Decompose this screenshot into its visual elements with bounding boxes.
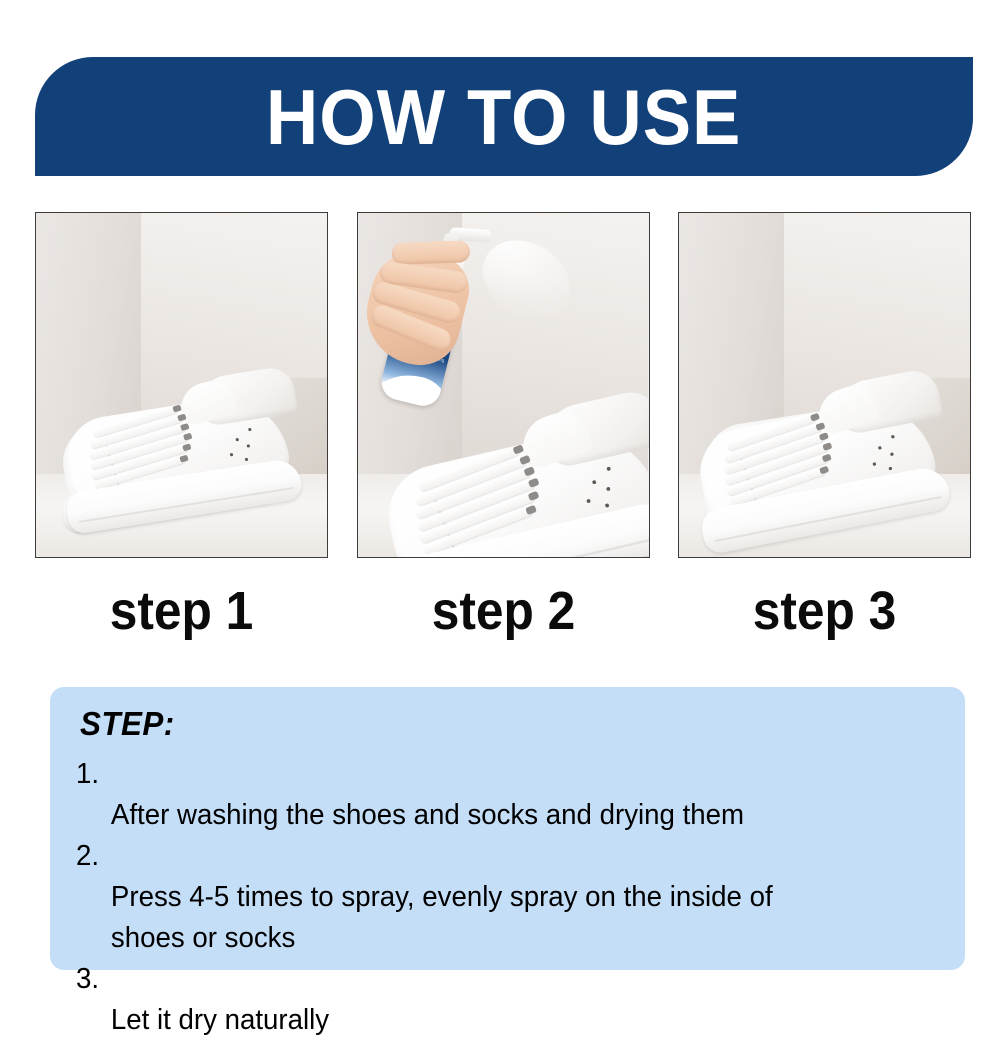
- list-item-text: Press 4-5 times to spray, evenly spray o…: [111, 881, 773, 954]
- how-to-use-banner: HOW TO USE: [35, 57, 973, 176]
- list-item-number: 3.: [76, 959, 99, 1000]
- step-photo-3: [678, 212, 971, 558]
- steps-photo-row: SHOE CARE SHOE & SOCK ANTIBACTERIAL SPRA…: [35, 212, 971, 558]
- step-caption-row: step 1 step 2 step 3: [35, 575, 971, 647]
- sneaker-perforations: [218, 424, 267, 466]
- steps-list: 1.After washing the shoes and socks and …: [76, 754, 939, 1041]
- finger-1: [391, 240, 470, 265]
- list-item: 2.Press 4-5 times to spray, evenly spray…: [76, 836, 913, 959]
- steps-heading: STEP:: [80, 707, 175, 742]
- step-caption-3: step 3: [690, 575, 960, 647]
- list-item-text: Let it dry naturally: [111, 1004, 329, 1036]
- page-title: HOW TO USE: [266, 78, 741, 156]
- list-item-text: After washing the shoes and socks and dr…: [111, 799, 744, 831]
- list-item-number: 1.: [76, 754, 99, 795]
- step-photo-1: [35, 212, 328, 558]
- step-caption-2: step 2: [368, 575, 638, 647]
- list-item: 1.After washing the shoes and socks and …: [76, 754, 913, 836]
- step-photo-2: SHOE CARE SHOE & SOCK ANTIBACTERIAL SPRA…: [357, 212, 650, 558]
- step-caption-1: step 1: [47, 575, 317, 647]
- list-item-number: 2.: [76, 836, 99, 877]
- steps-instruction-box: STEP: 1.After washing the shoes and sock…: [50, 687, 965, 970]
